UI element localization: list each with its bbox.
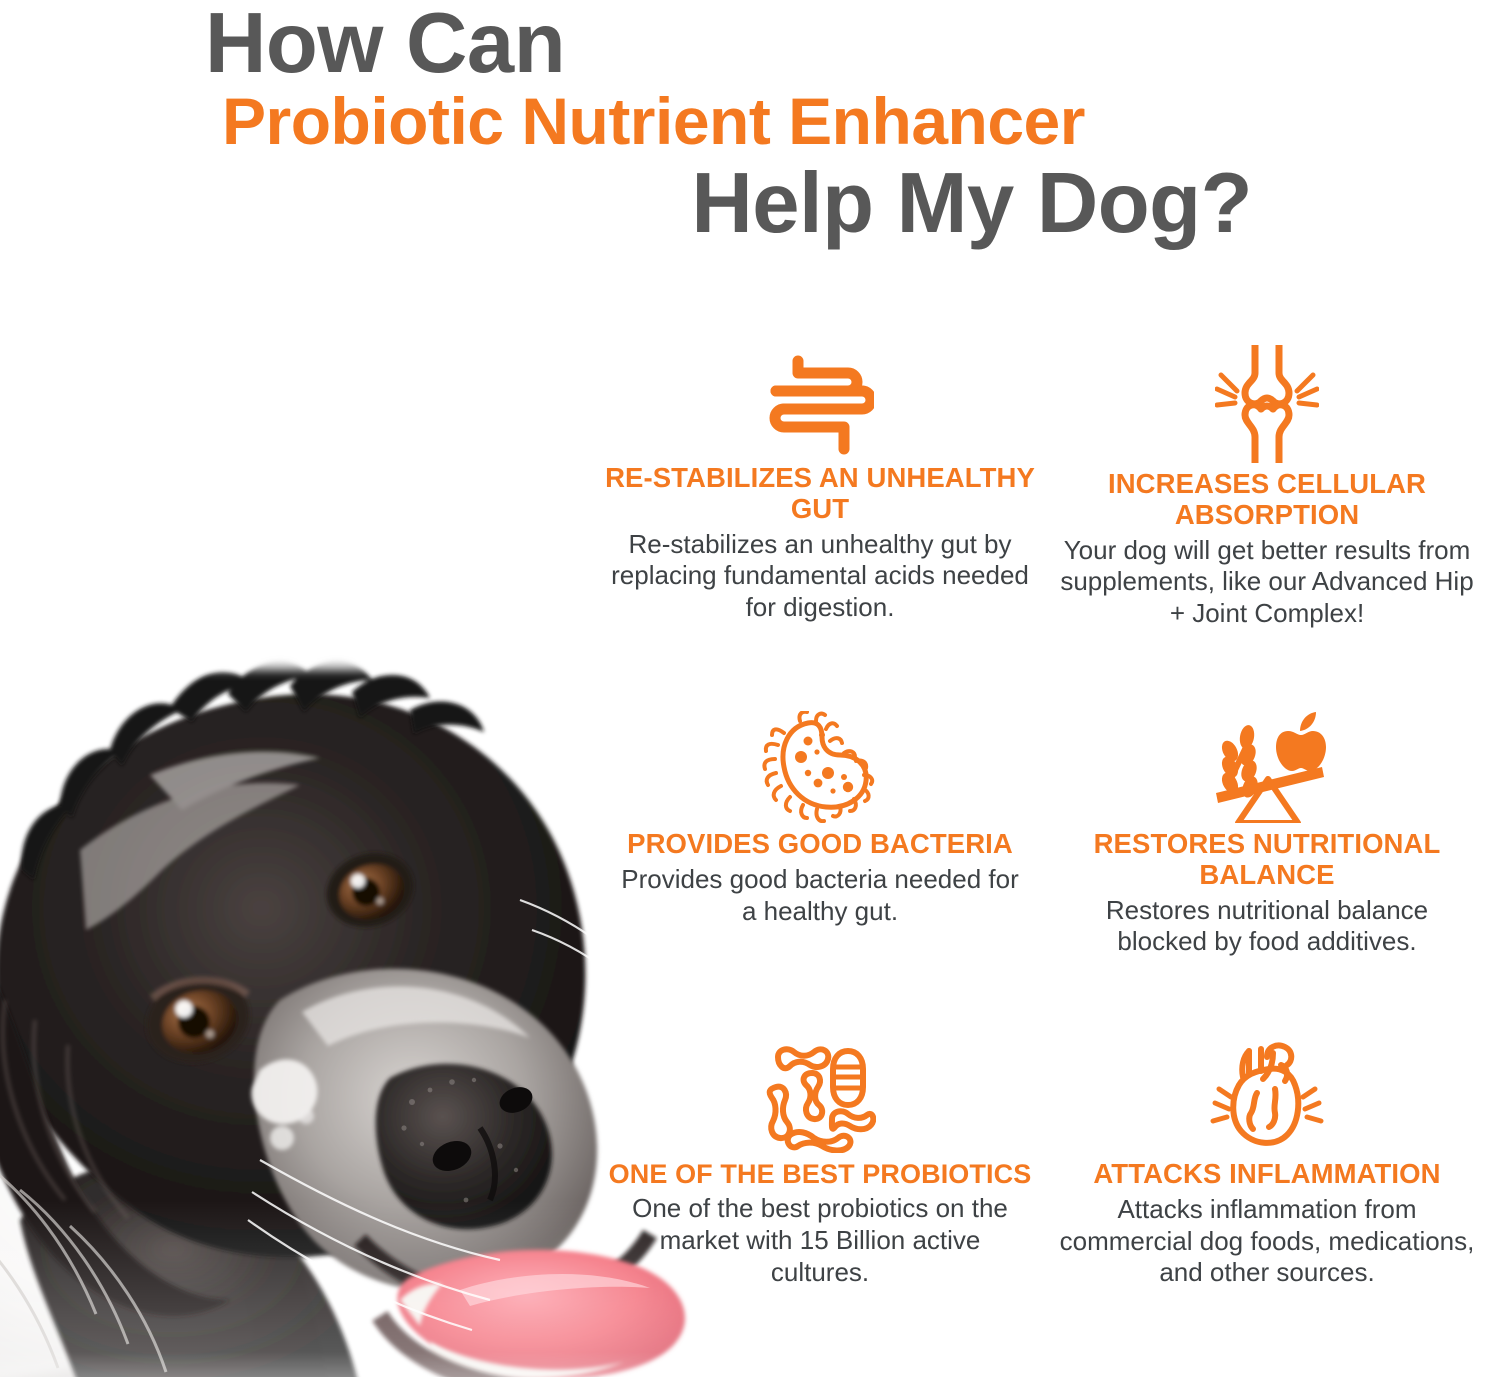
page-title: How Can Probiotic Nutrient Enhancer Help… [0, 0, 1400, 245]
benefit-title: ONE OF THE BEST PROBIOTICS [605, 1159, 1035, 1189]
dog-photo [0, 600, 700, 1377]
balance-scale-icon [1052, 705, 1482, 823]
benefit-body: One of the best probiotics on the market… [605, 1193, 1035, 1288]
benefits-grid: RE-STABILIZES AN UNHEALTHY GUT Re-stabil… [600, 345, 1500, 1377]
benefit-title: RE-STABILIZES AN UNHEALTHY GUT [605, 463, 1035, 525]
benefit-card-attacks-inflammation: ATTACKS INFLAMMATION Attacks inflammatio… [1052, 1035, 1482, 1289]
headline-line-3: Help My Dog? [0, 162, 1400, 245]
probiotic-cultures-icon [605, 1035, 1035, 1153]
intestine-icon [605, 345, 1035, 457]
benefit-title: ATTACKS INFLAMMATION [1052, 1159, 1482, 1190]
benefit-body: Restores nutritional balance blocked by … [1052, 895, 1482, 958]
benefit-body: Provides good bacteria needed for a heal… [605, 864, 1035, 927]
benefit-card-nutritional-balance: RESTORES NUTRITIONAL BALANCE Restores nu… [1052, 705, 1482, 958]
benefit-title: PROVIDES GOOD BACTERIA [605, 829, 1035, 860]
benefit-body: Your dog will get better results from su… [1052, 535, 1482, 630]
benefit-card-best-probiotics: ONE OF THE BEST PROBIOTICS One of the be… [605, 1035, 1035, 1288]
headline-line-1: How Can [0, 2, 1400, 85]
benefit-title: RESTORES NUTRITIONAL BALANCE [1052, 829, 1482, 891]
benefit-title: INCREASES CELLULAR ABSORPTION [1052, 469, 1482, 531]
infographic-page: How Can Probiotic Nutrient Enhancer Help… [0, 0, 1500, 1377]
benefit-body: Re-stabilizes an unhealthy gut by replac… [605, 529, 1035, 624]
anatomical-heart-icon [1052, 1035, 1482, 1153]
benefit-card-re-stabilizes-gut: RE-STABILIZES AN UNHEALTHY GUT Re-stabil… [605, 345, 1035, 624]
benefit-card-good-bacteria: PROVIDES GOOD BACTERIA Provides good bac… [605, 705, 1035, 927]
bacteria-icon [605, 705, 1035, 823]
benefit-body: Attacks inflammation from commercial dog… [1052, 1194, 1482, 1289]
benefit-card-cellular-absorption: INCREASES CELLULAR ABSORPTION Your dog w… [1052, 345, 1482, 630]
headline-line-2-product: Probiotic Nutrient Enhancer [0, 89, 1400, 154]
joint-bone-icon [1052, 345, 1482, 463]
